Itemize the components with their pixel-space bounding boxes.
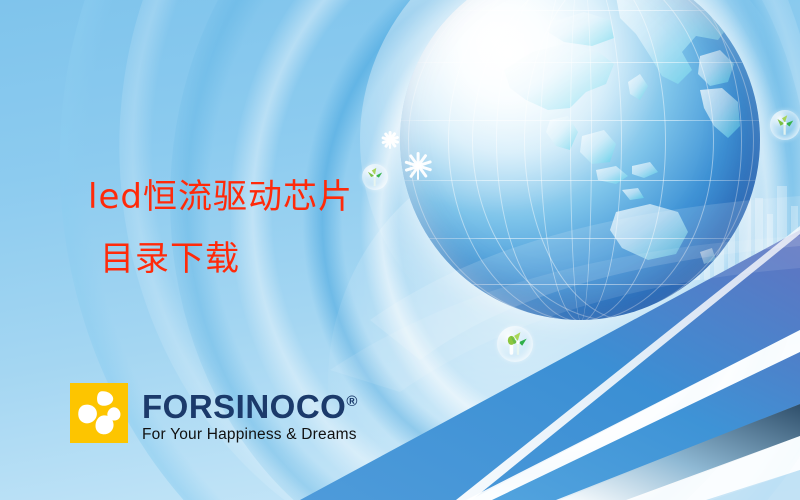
headline-line-1: led恒流驱动芯片 [88, 177, 353, 217]
city-skyline-silhouette [610, 150, 800, 280]
logo-company-name: FORSINOCO® [142, 385, 358, 424]
globe-longitude-line [472, 0, 760, 320]
globe-rim-shading [400, 0, 760, 320]
eco-bubble-right [770, 110, 800, 140]
globe-longitude-line [448, 0, 714, 320]
globe-longitude-line [540, 0, 622, 320]
eco-turbine-icon [497, 326, 533, 362]
background-swirl-arc [300, 0, 770, 500]
daisy-starburst-large [404, 152, 432, 180]
logo-company-name-text: FORSINOCO [142, 388, 346, 425]
globe-longitude-line [408, 0, 754, 320]
globe-specular-highlight [400, 0, 760, 320]
headline-text: led恒流驱动芯片 目录下载 [88, 166, 353, 290]
logo-text-block: FORSINOCO® For Your Happiness & Dreams [142, 383, 358, 445]
globe-longitude-line [524, 0, 742, 320]
globe-sphere [400, 0, 760, 320]
pinwheel-flower-icon [70, 383, 128, 443]
globe-latitude-line [400, 284, 760, 285]
globe-latitude-line [400, 238, 760, 239]
registered-trademark-icon: ® [346, 393, 358, 410]
globe-longitude-line [570, 0, 592, 320]
banner-image: led恒流驱动芯片 目录下载 FORSINOCO® For Your Happi… [0, 0, 800, 500]
globe-latitude-line [400, 62, 760, 63]
eco-turbine-icon [770, 110, 800, 140]
eco-turbine-icon [362, 164, 388, 190]
eco-bubble-center [497, 326, 533, 362]
logo-tagline: For Your Happiness & Dreams [142, 425, 358, 445]
company-logo: FORSINOCO® For Your Happiness & Dreams [70, 383, 358, 445]
daisy-starburst-small [381, 131, 399, 149]
globe-longitude-line [496, 0, 666, 320]
background-swirl-arc [355, 0, 775, 470]
globe-outer-glow [360, 0, 800, 360]
headline-line-2: 目录下载 [88, 228, 353, 290]
globe-latitude-line [400, 120, 760, 121]
eco-bubble-left [362, 164, 388, 190]
globe-latitude-line [400, 10, 760, 11]
globe-continents [400, 0, 760, 320]
globe-latitude-line [400, 180, 760, 181]
earth-globe [400, 0, 760, 320]
